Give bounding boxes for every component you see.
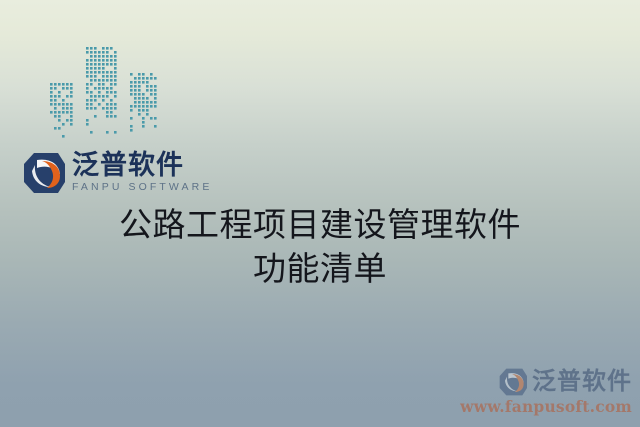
brand-name-en: FANPU SOFTWARE <box>72 181 212 194</box>
watermark-fanpu-hexagon-logo-icon <box>498 368 528 396</box>
page-title: 公路工程项目建设管理软件 功能清单 <box>0 203 640 291</box>
fanpu-hexagon-logo-icon <box>22 152 66 194</box>
brand-name-cn: 泛普软件 <box>72 152 212 180</box>
watermark-brand-row: 泛普软件 <box>460 368 632 396</box>
watermark-url: www.fanpusoft.com <box>460 398 632 415</box>
dot-skyline-svg <box>50 45 162 145</box>
brand-logo-wordmark: 泛普软件 FANPU SOFTWARE <box>72 152 212 193</box>
brand-logo: 泛普软件 FANPU SOFTWARE <box>22 152 212 194</box>
page-title-line-1: 公路工程项目建设管理软件 <box>0 203 640 247</box>
watermark-brand-name: 泛普软件 <box>532 370 632 394</box>
dot-building-skyline-graphic <box>50 45 162 145</box>
page-title-line-2: 功能清单 <box>0 247 640 291</box>
watermark: 泛普软件 www.fanpusoft.com <box>460 368 632 415</box>
cover-slide: 泛普软件 FANPU SOFTWARE 公路工程项目建设管理软件 功能清单 泛普… <box>0 0 640 427</box>
